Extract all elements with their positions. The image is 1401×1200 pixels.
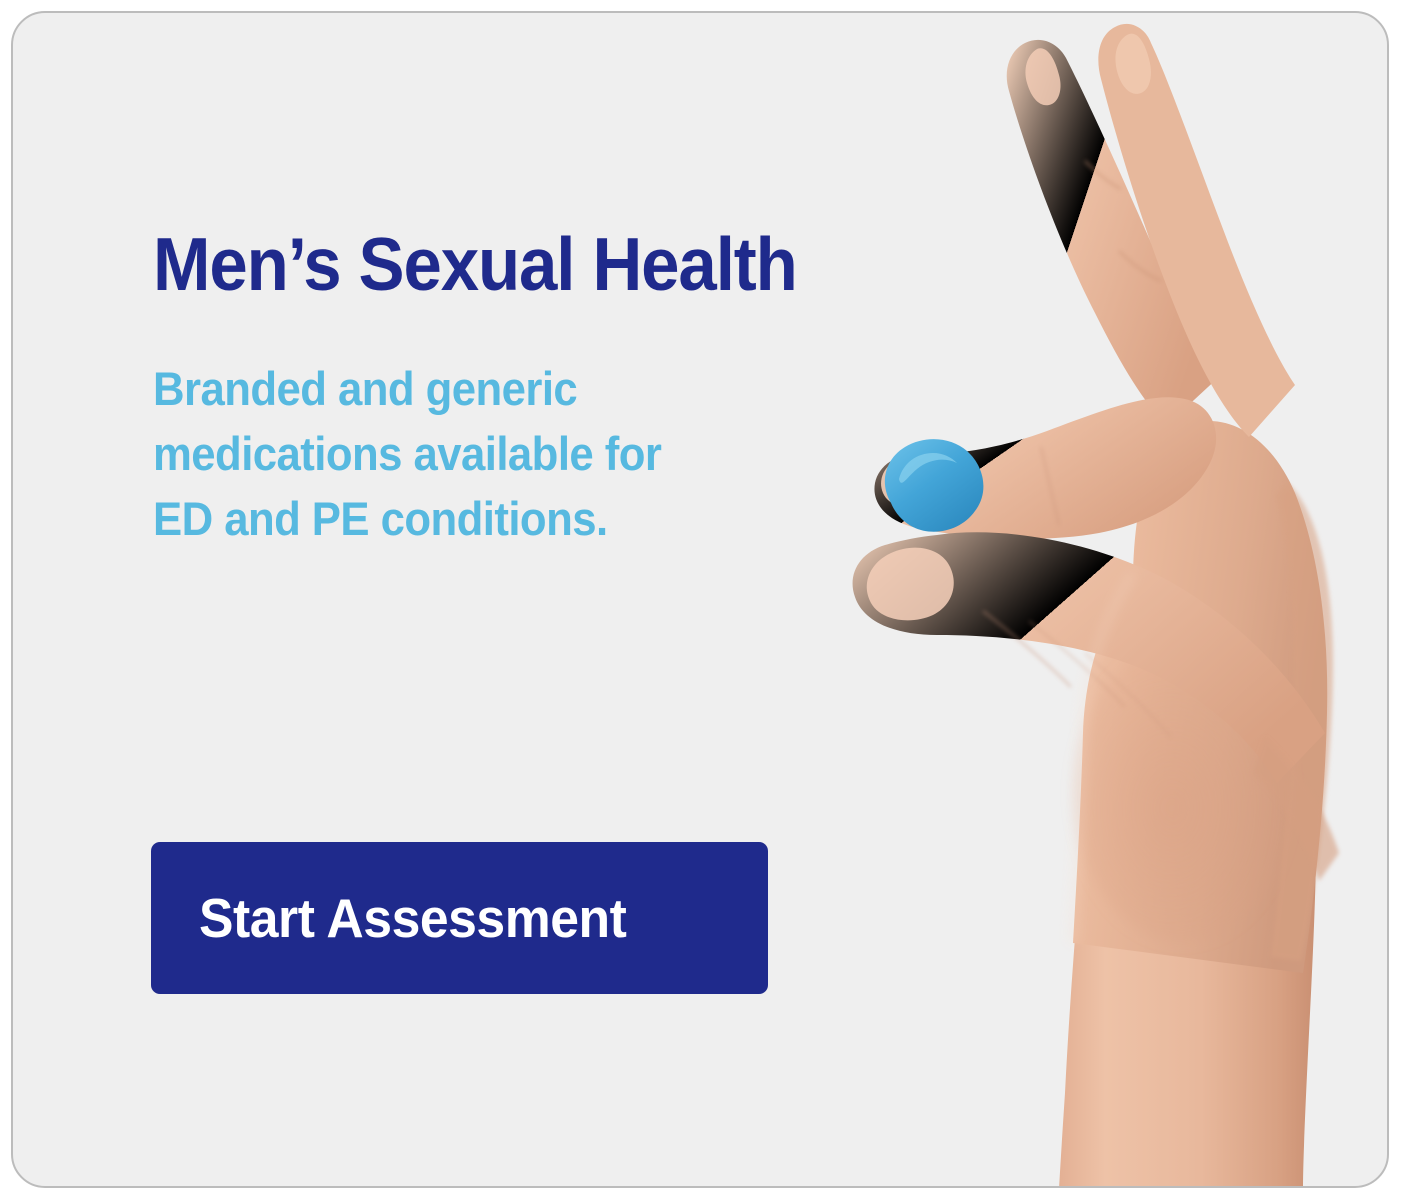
start-assessment-button[interactable]: Start Assessment — [151, 842, 768, 994]
start-assessment-button-label: Start Assessment — [199, 886, 626, 950]
hero-subtitle: Branded and generic medications availabl… — [153, 302, 748, 551]
hand-holding-pill-photo — [833, 13, 1389, 1188]
hero-copy: Men’s Sexual Health Branded and generic … — [153, 227, 793, 551]
page-title: Men’s Sexual Health — [153, 227, 742, 302]
promo-card: Men’s Sexual Health Branded and generic … — [11, 11, 1389, 1188]
pill-glyph — [885, 439, 984, 532]
